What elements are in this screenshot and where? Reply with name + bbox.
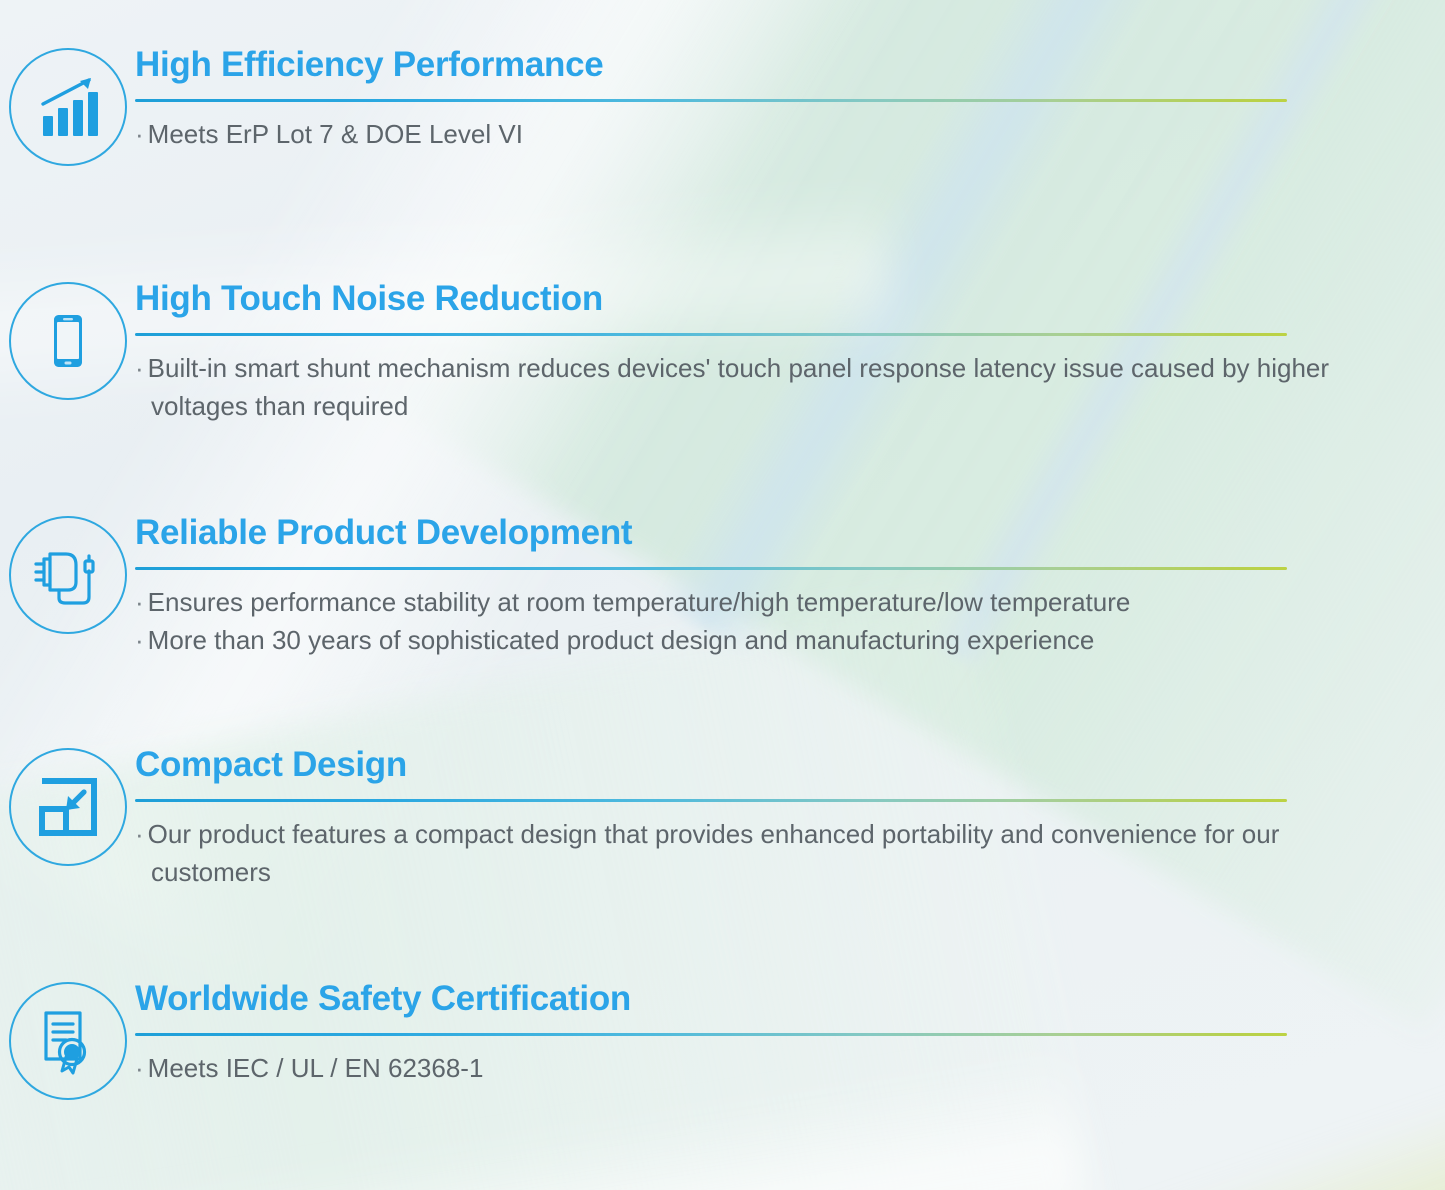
feature-icon-container	[0, 512, 135, 634]
feature-text-container: High Efficiency Performance ·Meets ErP L…	[135, 44, 1445, 154]
feature-divider	[135, 567, 1287, 570]
feature-title: High Efficiency Performance	[135, 46, 1365, 83]
feature-item-compact-design: Compact Design ·Our product features a c…	[0, 744, 1445, 892]
feature-bullet-line: ·Ensures performance stability at room t…	[135, 584, 1365, 622]
bullet-marker: ·	[135, 587, 148, 617]
feature-text-container: Worldwide Safety Certification ·Meets IE…	[135, 978, 1445, 1088]
feature-bullet-line: ·Our product features a compact design t…	[135, 816, 1365, 892]
feature-icon-container	[0, 978, 135, 1100]
feature-text-container: Reliable Product Development ·Ensures pe…	[135, 512, 1445, 660]
feature-bullet-line: ·Meets IEC / UL / EN 62368-1	[135, 1050, 1365, 1088]
feature-divider	[135, 99, 1287, 102]
bar-chart-growth-icon	[9, 48, 127, 166]
bullet-marker: ·	[135, 119, 148, 149]
feature-line-text: Our product features a compact design th…	[148, 819, 1280, 887]
bullet-marker: ·	[135, 353, 148, 383]
bullet-marker: ·	[135, 1053, 148, 1083]
feature-description: ·Ensures performance stability at room t…	[135, 584, 1365, 660]
feature-icon-container	[0, 744, 135, 866]
feature-line-text: Meets IEC / UL / EN 62368-1	[148, 1053, 484, 1083]
compact-resize-icon	[9, 748, 127, 866]
feature-icon-container	[0, 44, 135, 166]
feature-item-reliable-product-development: Reliable Product Development ·Ensures pe…	[0, 512, 1445, 660]
feature-line-text: Meets ErP Lot 7 & DOE Level VI	[148, 119, 523, 149]
feature-title: Worldwide Safety Certification	[135, 980, 1365, 1017]
feature-list: High Efficiency Performance ·Meets ErP L…	[0, 0, 1445, 1190]
power-adapter-icon	[9, 516, 127, 634]
feature-line-text: More than 30 years of sophisticated prod…	[148, 625, 1095, 655]
feature-item-high-efficiency-performance: High Efficiency Performance ·Meets ErP L…	[0, 44, 1445, 166]
feature-title: High Touch Noise Reduction	[135, 280, 1365, 317]
feature-icon-container	[0, 278, 135, 400]
feature-item-high-touch-noise-reduction: High Touch Noise Reduction ·Built-in sma…	[0, 278, 1445, 426]
bullet-marker: ·	[135, 625, 148, 655]
feature-divider	[135, 799, 1287, 802]
feature-description: ·Our product features a compact design t…	[135, 816, 1365, 892]
feature-divider	[135, 333, 1287, 336]
feature-divider	[135, 1033, 1287, 1036]
feature-title: Compact Design	[135, 746, 1365, 783]
feature-description: ·Built-in smart shunt mechanism reduces …	[135, 350, 1365, 426]
feature-bullet-line: ·More than 30 years of sophisticated pro…	[135, 622, 1365, 660]
feature-description: ·Meets ErP Lot 7 & DOE Level VI	[135, 116, 1365, 154]
smartphone-icon	[9, 282, 127, 400]
feature-text-container: Compact Design ·Our product features a c…	[135, 744, 1445, 892]
feature-line-text: Ensures performance stability at room te…	[148, 587, 1131, 617]
certificate-award-icon	[9, 982, 127, 1100]
feature-bullet-line: ·Meets ErP Lot 7 & DOE Level VI	[135, 116, 1365, 154]
feature-description: ·Meets IEC / UL / EN 62368-1	[135, 1050, 1365, 1088]
feature-item-worldwide-safety-certification: Worldwide Safety Certification ·Meets IE…	[0, 978, 1445, 1100]
feature-line-text: Built-in smart shunt mechanism reduces d…	[148, 353, 1329, 421]
bullet-marker: ·	[135, 819, 148, 849]
feature-bullet-line: ·Built-in smart shunt mechanism reduces …	[135, 350, 1365, 426]
feature-title: Reliable Product Development	[135, 514, 1365, 551]
feature-text-container: High Touch Noise Reduction ·Built-in sma…	[135, 278, 1445, 426]
